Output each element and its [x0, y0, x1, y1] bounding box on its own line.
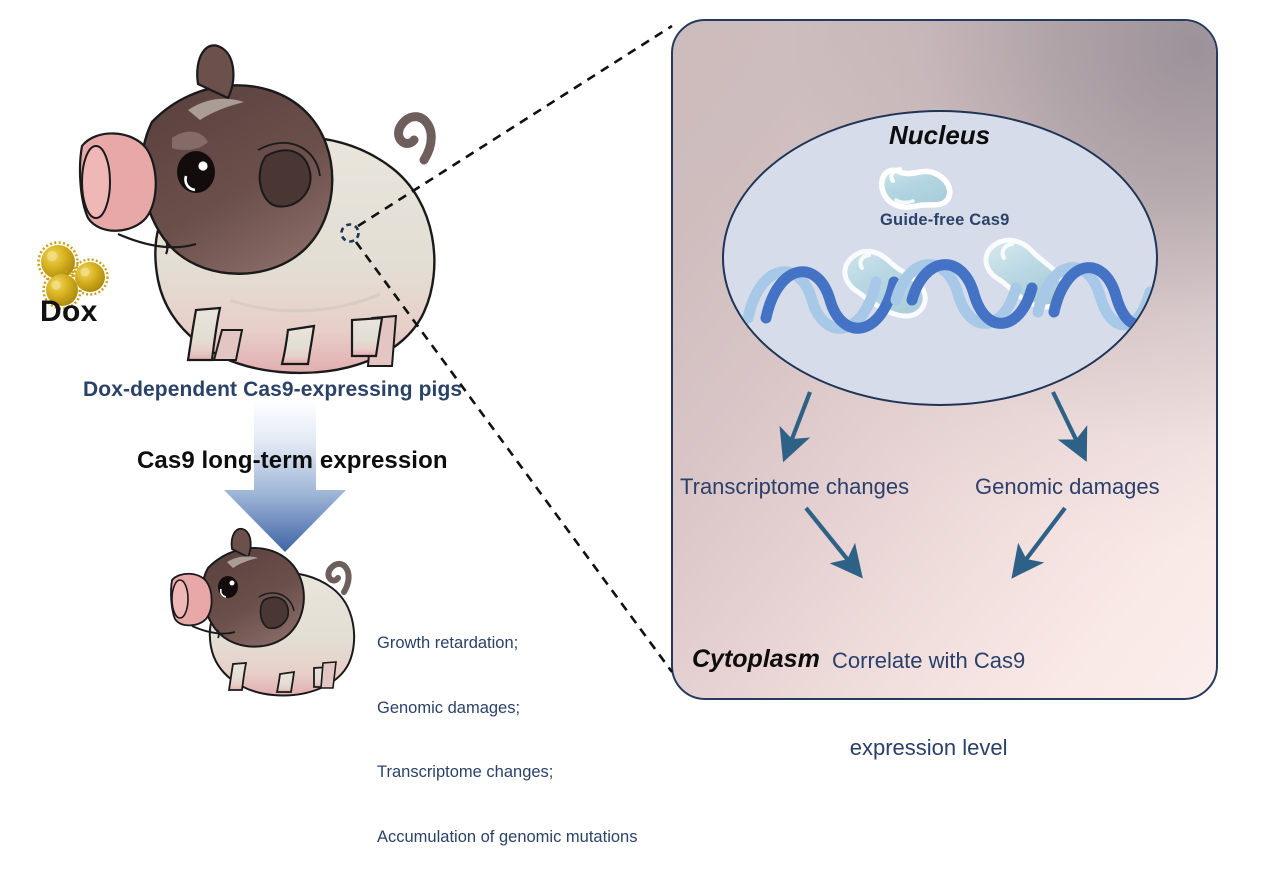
dox-label: Dox: [40, 295, 98, 329]
guide-free-cas9-label: Guide-free Cas9: [880, 211, 1010, 230]
dashed-callout-circle: [342, 225, 359, 242]
figure-canvas: Nucleus Guide-free Cas9 Transcriptome ch…: [0, 0, 1269, 713]
outcome-item: Growth retardation;: [377, 633, 637, 655]
cytoplasm-label: Cytoplasm: [692, 645, 820, 674]
nucleus-ellipse: [722, 110, 1158, 406]
outcome-list: Growth retardation; Genomic damages; Tra…: [377, 590, 637, 891]
correlate-line: Correlate with Cas9: [832, 646, 1025, 675]
nucleus-label: Nucleus: [889, 120, 990, 151]
outcome-item: Accumulation of genomic mutations: [377, 827, 637, 849]
long-term-expression-caption: Cas9 long-term expression: [137, 447, 448, 475]
outcome-item: Transcriptome changes;: [377, 762, 637, 784]
genomic-damages-label: Genomic damages: [975, 474, 1160, 500]
correlate-label: Correlate with Cas9 expression level: [832, 588, 1025, 820]
outcome-item: Genomic damages;: [377, 698, 637, 720]
pig-illustration-small: [171, 529, 354, 696]
pig-illustration: [80, 45, 434, 373]
callout-connector-line: [356, 26, 672, 672]
down-arrow-gradient: [224, 400, 346, 552]
transcriptome-changes-label: Transcriptome changes: [680, 474, 909, 500]
correlate-line: expression level: [832, 733, 1025, 762]
pigs-caption: Dox-dependent Cas9-expressing pigs: [83, 378, 462, 402]
